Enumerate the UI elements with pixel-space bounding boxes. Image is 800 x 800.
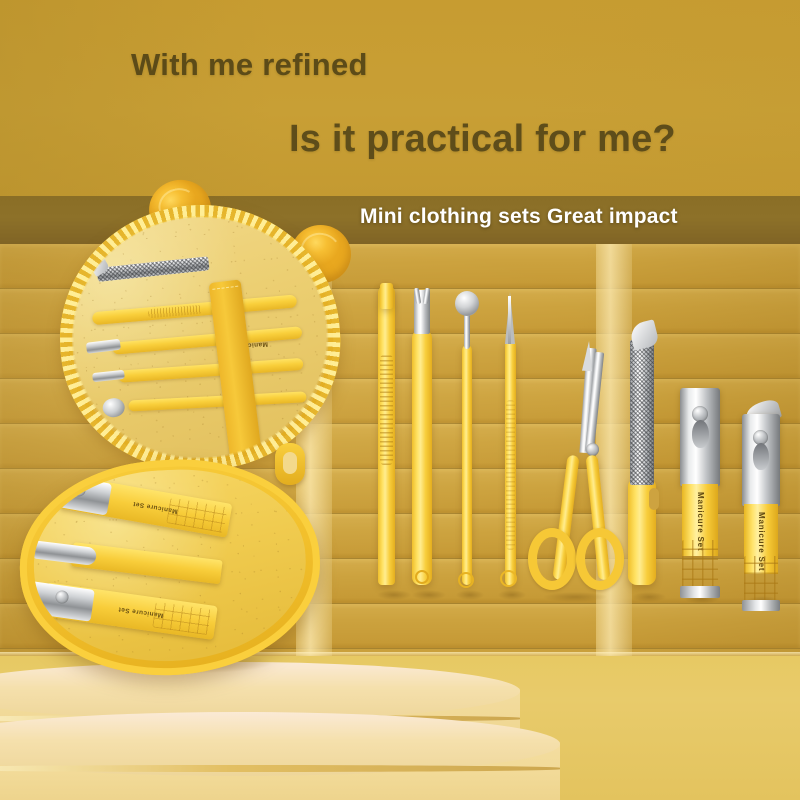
manicure-case: Manicure Set Manicure Set <box>20 175 350 675</box>
needle-highlight <box>508 296 511 344</box>
headline-band-text: Mini clothing sets Great impact <box>360 205 678 229</box>
clipper-small-grip-pad <box>744 556 778 604</box>
file-handle-notch <box>649 488 659 510</box>
case-zipper-pull[interactable] <box>275 443 305 485</box>
tweezers-hole <box>415 570 429 584</box>
ear-spoon-hole <box>458 572 474 588</box>
headline-primary: With me refined <box>131 47 368 83</box>
case-lid: Manicure Set <box>51 196 349 480</box>
podium-front-rim <box>0 765 560 772</box>
case-base: Manicure Set Manicure Set <box>15 452 326 682</box>
clipper-large-lever-arm <box>692 420 709 448</box>
needle-hole <box>500 570 517 587</box>
ear-spoon-bowl <box>455 291 479 316</box>
background-upper <box>0 0 800 200</box>
clipper-large-grip-pad <box>682 540 718 590</box>
scissors-ring-b <box>576 528 624 590</box>
product-banner: Manicure Set Manicure Set <box>0 0 800 800</box>
scissors-pivot <box>586 443 599 456</box>
clipper-small-lever-arm <box>753 443 769 470</box>
file-surface <box>630 340 654 485</box>
scissors-ring-a <box>528 528 576 590</box>
headline-secondary: Is it practical for me? <box>289 118 676 161</box>
pusher-grip-ridges <box>380 355 393 465</box>
